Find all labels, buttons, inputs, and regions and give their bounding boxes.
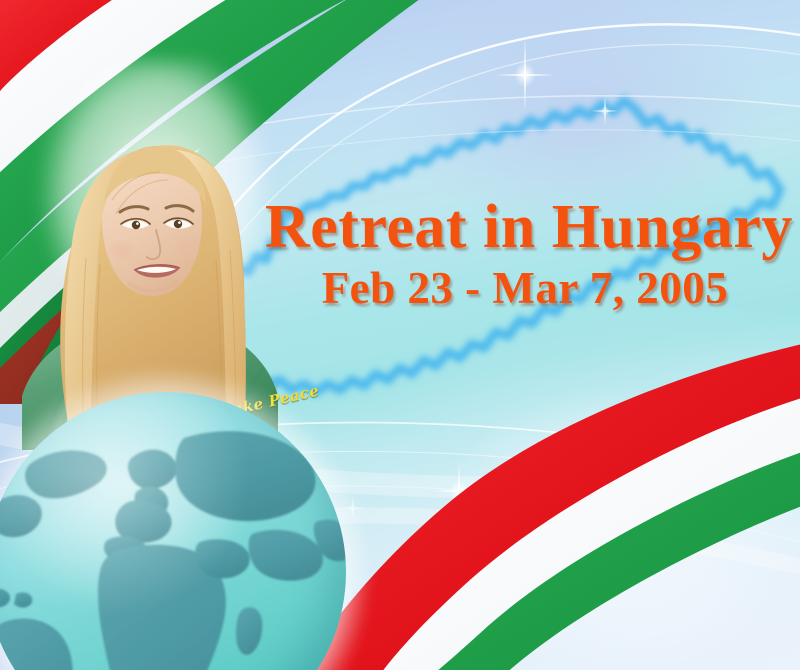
page-title: Retreat in Hungary bbox=[265, 196, 785, 259]
globe-graphic bbox=[0, 392, 346, 670]
poster-canvas: Be Vegan Make Peace bbox=[0, 0, 800, 670]
title-block: Retreat in Hungary Feb 23 - Mar 7, 2005 bbox=[265, 196, 785, 312]
globe-sphere bbox=[0, 392, 346, 670]
event-date-range: Feb 23 - Mar 7, 2005 bbox=[265, 265, 785, 312]
